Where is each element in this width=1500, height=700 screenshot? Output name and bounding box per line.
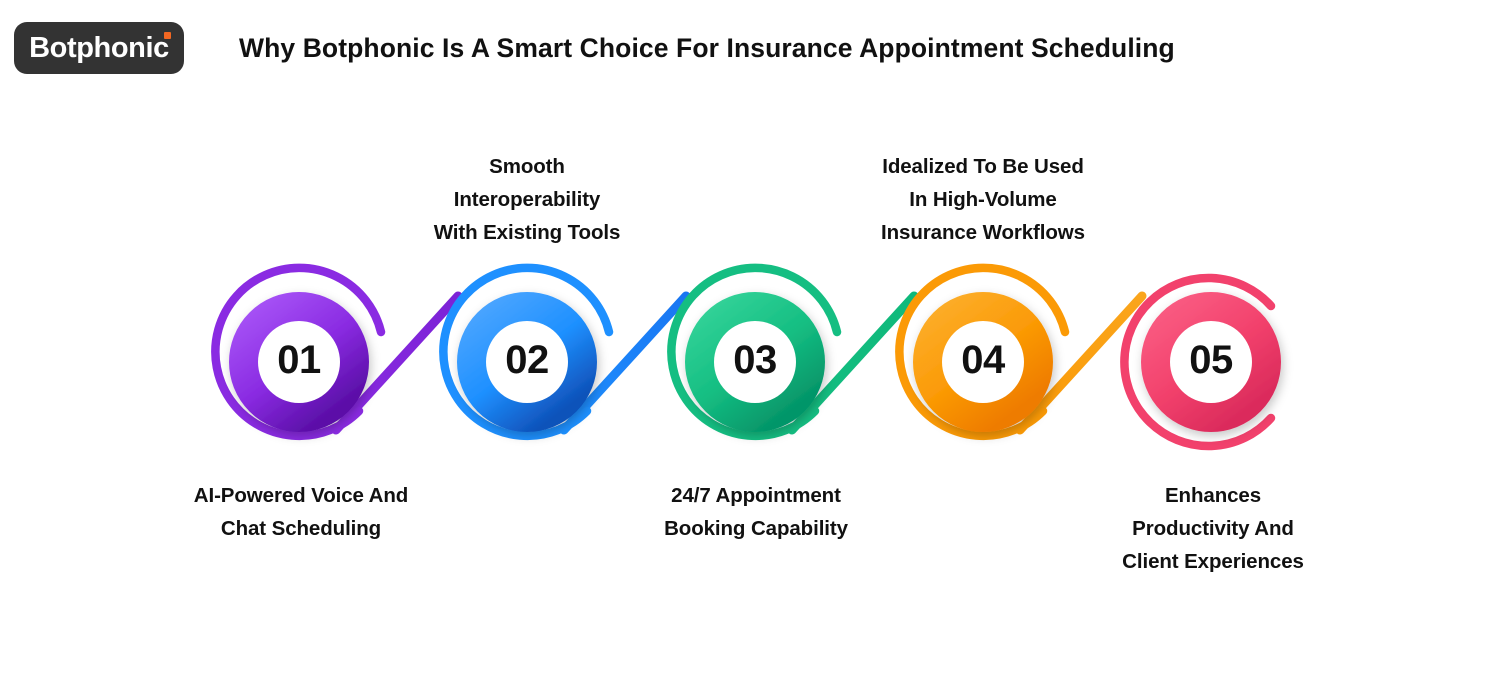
caption-line: Client Experiences [1063, 545, 1363, 578]
step-number-5: 05 [1151, 338, 1271, 383]
caption-line: Interoperability [377, 183, 677, 216]
caption-line: Idealized To Be Used [833, 150, 1133, 183]
caption-line: Booking Capability [606, 512, 906, 545]
caption-line: AI-Powered Voice And [151, 479, 451, 512]
caption-line: 24/7 Appointment [606, 479, 906, 512]
step-caption-5: Enhances Productivity And Client Experie… [1063, 479, 1363, 578]
step-number-2: 02 [467, 338, 587, 383]
step-number-3: 03 [695, 338, 815, 383]
step-number-1: 01 [239, 338, 359, 383]
caption-line: Enhances [1063, 479, 1363, 512]
step-number-4: 04 [923, 338, 1043, 383]
caption-line: Insurance Workflows [833, 216, 1133, 249]
step-caption-2: Smooth Interoperability With Existing To… [377, 150, 677, 249]
caption-line: Productivity And [1063, 512, 1363, 545]
infographic-stage: 01 02 03 04 05 Smooth Interoperability W… [0, 0, 1500, 700]
caption-line: With Existing Tools [377, 216, 677, 249]
caption-line: Smooth [377, 150, 677, 183]
step-caption-1: AI-Powered Voice And Chat Scheduling [151, 479, 451, 545]
step-caption-3: 24/7 Appointment Booking Capability [606, 479, 906, 545]
caption-line: In High-Volume [833, 183, 1133, 216]
step-caption-4: Idealized To Be Used In High-Volume Insu… [833, 150, 1133, 249]
caption-line: Chat Scheduling [151, 512, 451, 545]
